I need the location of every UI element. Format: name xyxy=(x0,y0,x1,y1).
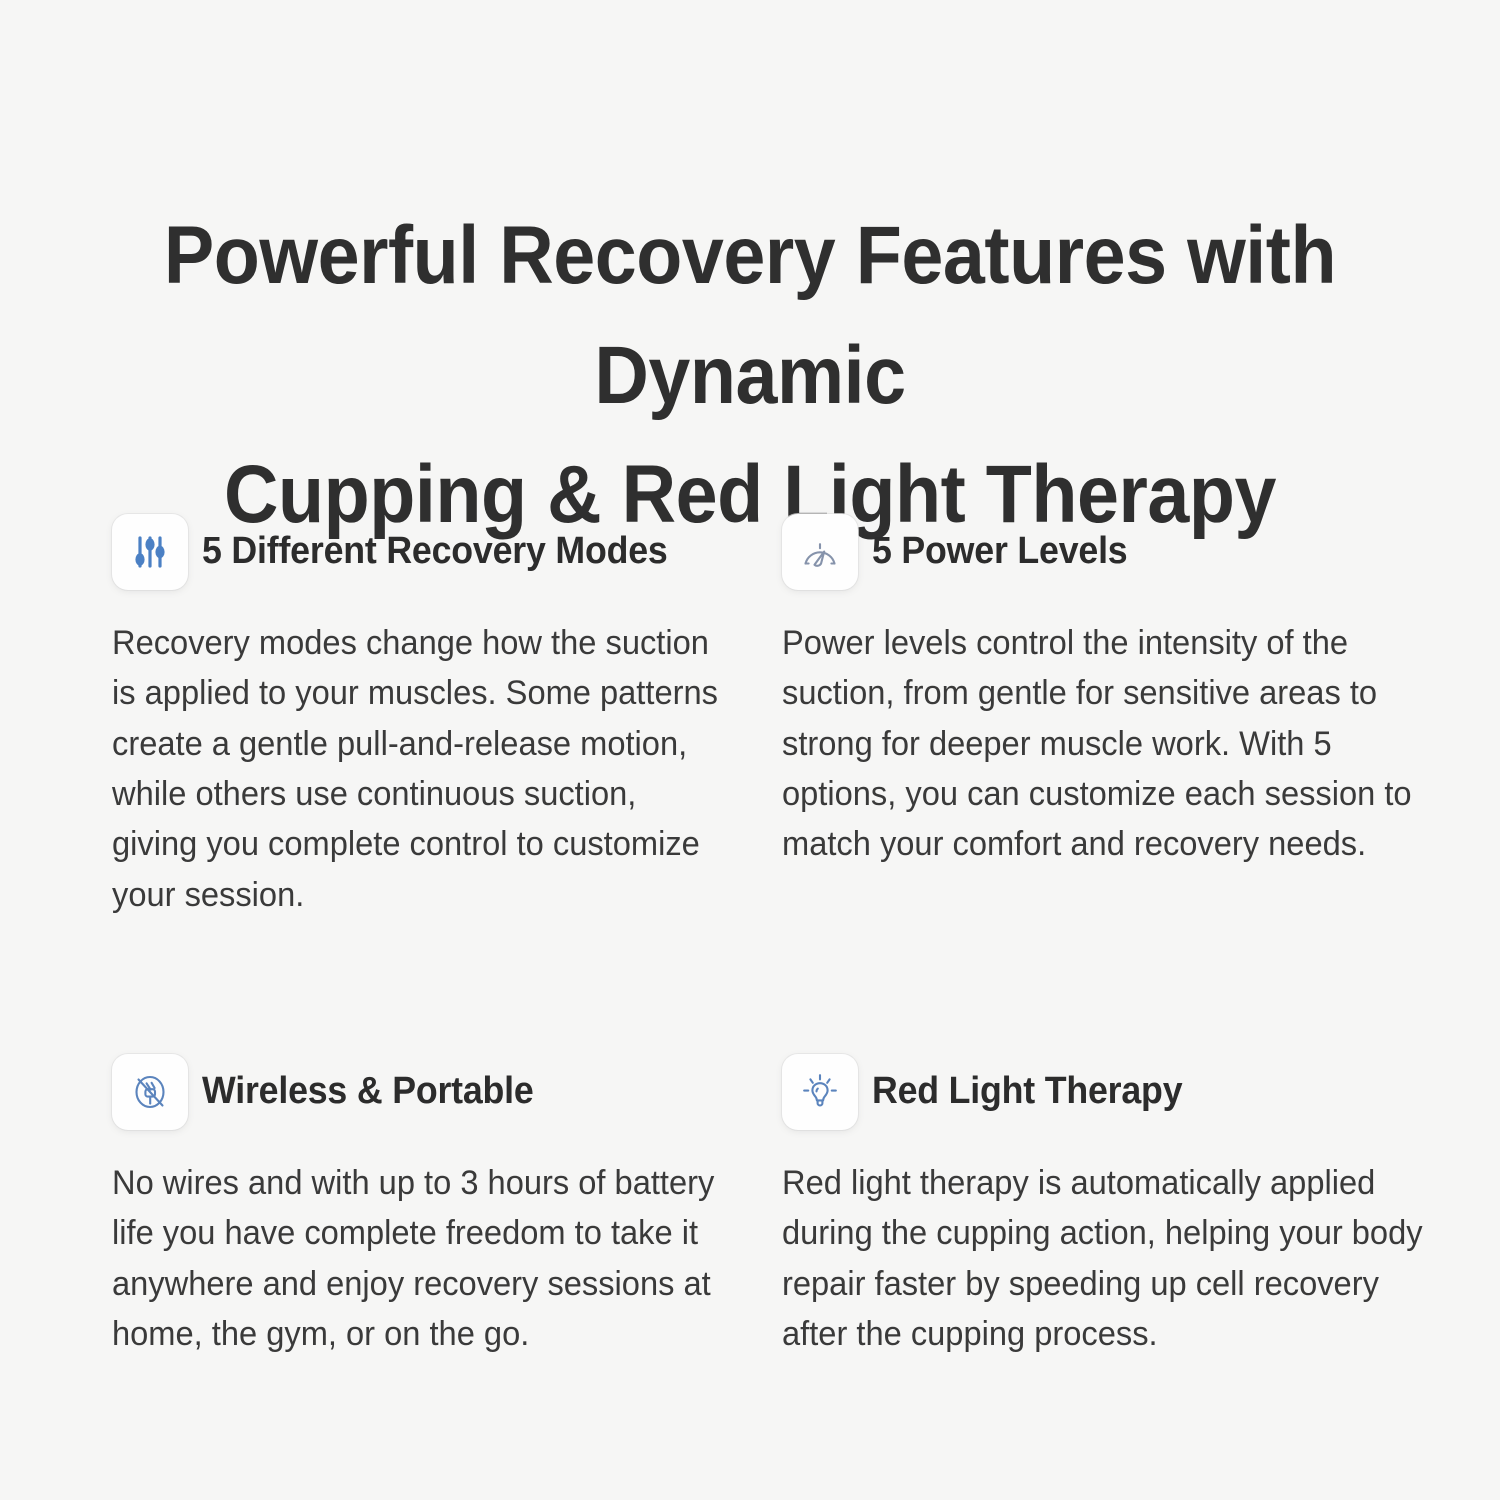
page-title-line-1: Powerful Recovery Features with Dynamic xyxy=(164,210,1336,421)
feature-card-title: Red Light Therapy xyxy=(872,1071,1182,1113)
feature-card-wireless-portable: Wireless & Portable No wires and with up… xyxy=(112,1052,732,1393)
feature-card-recovery-modes: 5 Different Recovery Modes Recovery mode… xyxy=(112,512,732,954)
feature-card-power-levels: 5 Power Levels Power levels control the … xyxy=(782,512,1402,954)
page-title: Powerful Recovery Features with Dynamic … xyxy=(124,196,1375,555)
feature-card-title: 5 Power Levels xyxy=(872,531,1127,573)
feature-card-body: Recovery modes change how the suction is… xyxy=(112,618,726,920)
gauge-icon-tile xyxy=(782,514,858,590)
lightbulb-icon xyxy=(799,1071,841,1113)
feature-card-body: Red light therapy is automatically appli… xyxy=(782,1158,1444,1359)
feature-card-header: 5 Different Recovery Modes xyxy=(112,512,732,592)
feature-card-header: 5 Power Levels xyxy=(782,512,1402,592)
feature-grid: 5 Different Recovery Modes Recovery mode… xyxy=(112,512,1442,1393)
feature-section: Powerful Recovery Features with Dynamic … xyxy=(0,0,1500,1500)
sliders-icon xyxy=(129,531,171,573)
feature-card-red-light-therapy: Red Light Therapy Red light therapy is a… xyxy=(782,1052,1402,1393)
feature-card-header: Wireless & Portable xyxy=(112,1052,732,1132)
feature-card-title: Wireless & Portable xyxy=(202,1071,534,1113)
sliders-icon-tile xyxy=(112,514,188,590)
lightbulb-icon-tile xyxy=(782,1054,858,1130)
feature-card-body: Power levels control the intensity of th… xyxy=(782,618,1444,870)
no-plug-icon-tile xyxy=(112,1054,188,1130)
feature-card-title: 5 Different Recovery Modes xyxy=(202,531,668,573)
feature-card-body: No wires and with up to 3 hours of batte… xyxy=(112,1158,726,1359)
gauge-icon xyxy=(799,531,841,573)
feature-card-header: Red Light Therapy xyxy=(782,1052,1402,1132)
no-plug-icon xyxy=(129,1071,171,1113)
